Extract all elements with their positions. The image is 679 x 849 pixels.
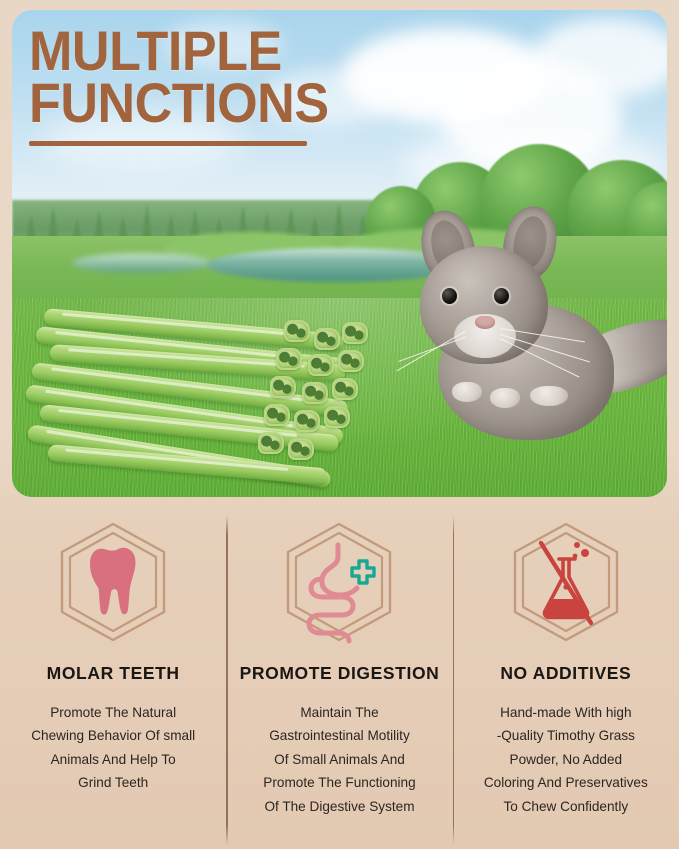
hero-photo-card: MULTIPLE FUNCTIONS <box>12 10 667 497</box>
chinchilla-paw <box>530 386 568 406</box>
grass-stick-cut-end <box>332 378 358 400</box>
chinchilla-eye-right <box>494 288 509 304</box>
features-row: MOLAR TEETH Promote The Natural Chewing … <box>0 505 679 849</box>
grass-stick-cut-end <box>284 320 310 342</box>
grass-stick-cut-end <box>276 348 302 370</box>
chinchilla-paw <box>490 388 520 408</box>
grass-stick-cut-end <box>270 376 296 398</box>
feature-column-no-additives: NO ADDITIVES Hand-made With high -Qualit… <box>453 505 679 849</box>
molar-tooth-icon <box>54 519 172 645</box>
feature-title: MOLAR TEETH <box>47 663 180 684</box>
grass-stick-cut-end <box>294 410 320 432</box>
pond-far <box>72 253 212 273</box>
feature-column-promote-digestion: PROMOTE DIGESTION Maintain The Gastroint… <box>226 505 452 849</box>
grass-stick-cut-end <box>302 382 328 404</box>
feature-body: Maintain The Gastrointestinal Motility O… <box>263 701 415 818</box>
chinchilla <box>404 206 667 491</box>
grass-stick-cut-end <box>258 432 284 454</box>
feature-title: PROMOTE DIGESTION <box>240 663 440 684</box>
hero-headline-block: MULTIPLE FUNCTIONS <box>29 25 351 146</box>
grass-stick-cut-end <box>338 350 364 372</box>
feature-title: NO ADDITIVES <box>500 663 631 684</box>
chinchilla-eye-left <box>442 288 457 304</box>
page-title: MULTIPLE FUNCTIONS <box>29 25 329 129</box>
title-underline <box>29 141 307 146</box>
grass-stick-cut-end <box>264 404 290 426</box>
chinchilla-nose <box>475 316 495 329</box>
grass-stick-cut-end <box>324 406 350 428</box>
grass-stick-cut-end <box>314 328 340 350</box>
grass-stick-cut-end <box>342 322 368 344</box>
infographic-page: MULTIPLE FUNCTIONS MOLAR TEETH Promote T… <box>0 0 679 849</box>
no-additives-flask-icon <box>507 519 625 645</box>
feature-body: Hand-made With high -Quality Timothy Gra… <box>484 701 648 818</box>
stomach-intestine-health-icon <box>280 519 398 645</box>
grass-stick-cut-end <box>288 438 314 460</box>
feature-column-molar-teeth: MOLAR TEETH Promote The Natural Chewing … <box>0 505 226 849</box>
grass-chew-sticks-bundle <box>26 292 386 487</box>
feature-body: Promote The Natural Chewing Behavior Of … <box>31 701 195 795</box>
grass-stick-cut-end <box>308 354 334 376</box>
chinchilla-paw <box>452 382 482 402</box>
